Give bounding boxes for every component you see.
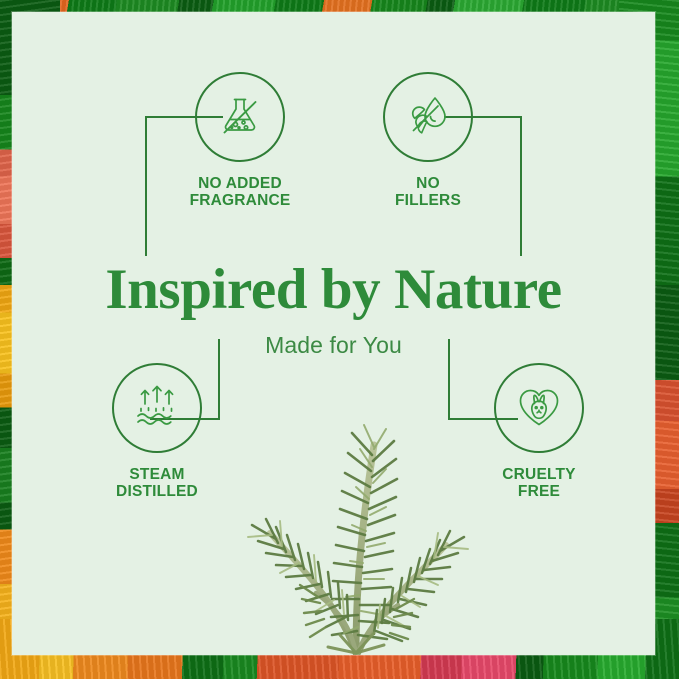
rosemary-sprig-image	[188, 385, 528, 655]
connector-top-left-vertical	[145, 116, 147, 256]
badge-no-added-fragrance[interactable]: NO ADDED FRAGRANCE	[175, 72, 305, 210]
steam-waves-arrows-icon	[128, 377, 186, 440]
badge-ring	[383, 72, 473, 162]
flask-no-fragrance-icon	[211, 86, 269, 149]
page-title: Inspired by Nature	[12, 261, 655, 318]
badge-no-fillers[interactable]: NO FILLERS	[363, 72, 493, 210]
connector-top-right-vertical	[520, 116, 522, 256]
product-infographic: NO ADDED FRAGRANCE NO FILLERS I	[0, 0, 679, 679]
badge-label: NO FILLERS	[363, 175, 493, 210]
page-subtitle: Made for You	[12, 332, 655, 359]
badge-label: NO ADDED FRAGRANCE	[175, 175, 305, 210]
content-card: NO ADDED FRAGRANCE NO FILLERS I	[12, 12, 655, 655]
badge-ring	[195, 72, 285, 162]
droplet-leaf-icon	[399, 86, 457, 149]
